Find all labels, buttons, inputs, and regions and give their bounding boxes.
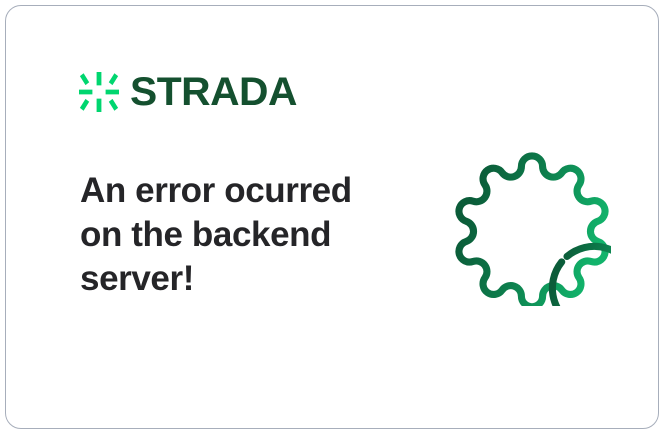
error-message: An error ocurred on the backend server! xyxy=(80,169,380,301)
strada-asterisk-icon xyxy=(79,72,119,112)
error-card: STRADA An error ocurred on the backend s… xyxy=(5,5,659,429)
gear-icon xyxy=(453,148,611,306)
brand-logo: STRADA xyxy=(79,72,294,112)
brand-wordmark: STRADA xyxy=(130,72,297,112)
